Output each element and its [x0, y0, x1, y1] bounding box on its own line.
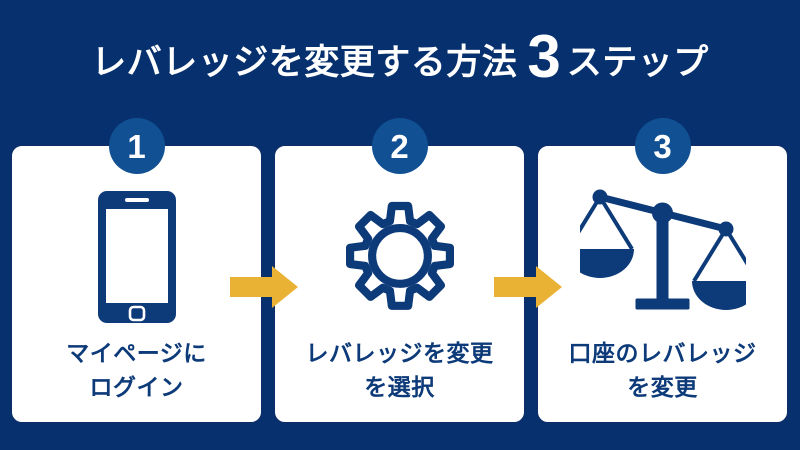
step-caption-3-line2: を変更 — [538, 371, 787, 404]
step-card-3[interactable]: 3 — [536, 144, 789, 424]
step-badge-3: 3 — [635, 118, 691, 174]
page-title-number: 3 — [527, 27, 560, 87]
connector-arrow-2 — [494, 266, 562, 308]
page-title: レバレッジを変更する方法 3 ステップ — [0, 24, 800, 88]
gear-icon — [332, 189, 468, 325]
page-title-lead: レバレッジを変更する方法 — [91, 45, 517, 80]
step-card-1[interactable]: 1 マイページに ログイン — [10, 144, 263, 424]
step-caption-2: レバレッジを変更 を選択 — [275, 337, 524, 404]
step-caption-2-line2: を選択 — [275, 371, 524, 404]
step-icon-3 — [538, 182, 787, 332]
step-caption-1-line2: ログイン — [12, 371, 261, 404]
infographic-canvas: レバレッジを変更する方法 3 ステップ 1 マイページに ログイン 2 — [0, 0, 800, 450]
step-card-2[interactable]: 2 レバレッジを変更 を選択 — [273, 144, 526, 424]
step-icon-2 — [275, 182, 524, 332]
step-badge-2: 2 — [372, 118, 428, 174]
step-icon-1 — [12, 182, 261, 332]
step-caption-1: マイページに ログイン — [12, 337, 261, 404]
step-caption-1-line1: マイページに — [12, 337, 261, 370]
step-caption-3: 口座のレバレッジ を変更 — [538, 337, 787, 404]
connector-arrow-1 — [230, 266, 298, 308]
page-title-tail: ステップ — [567, 45, 709, 80]
arrow-right-icon — [494, 266, 562, 308]
step-badge-1: 1 — [109, 118, 165, 174]
step-caption-3-line1: 口座のレバレッジ — [538, 337, 787, 370]
smartphone-icon — [96, 189, 178, 325]
step-caption-2-line1: レバレッジを変更 — [275, 337, 524, 370]
balance-scale-icon — [580, 187, 746, 327]
arrow-right-icon — [230, 266, 298, 308]
